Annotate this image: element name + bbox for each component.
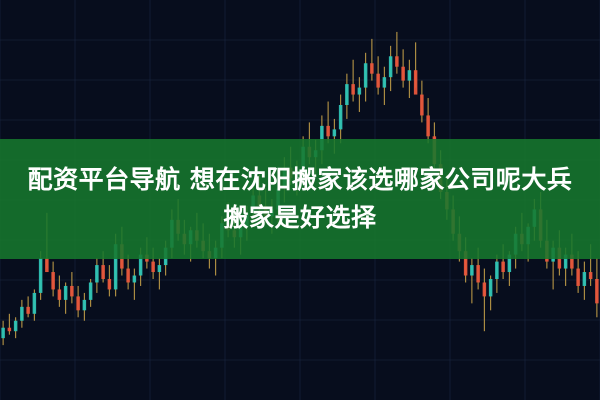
headline-line-1: 配资平台导航 想在沈阳搬家该选哪家公司呢大兵 — [28, 163, 573, 197]
banner-stage: 配资平台导航 想在沈阳搬家该选哪家公司呢大兵 搬家是好选择 — [0, 0, 600, 400]
headline-line-2: 搬家是好选择 — [223, 201, 376, 235]
headline-overlay: 配资平台导航 想在沈阳搬家该选哪家公司呢大兵 搬家是好选择 — [0, 139, 600, 259]
